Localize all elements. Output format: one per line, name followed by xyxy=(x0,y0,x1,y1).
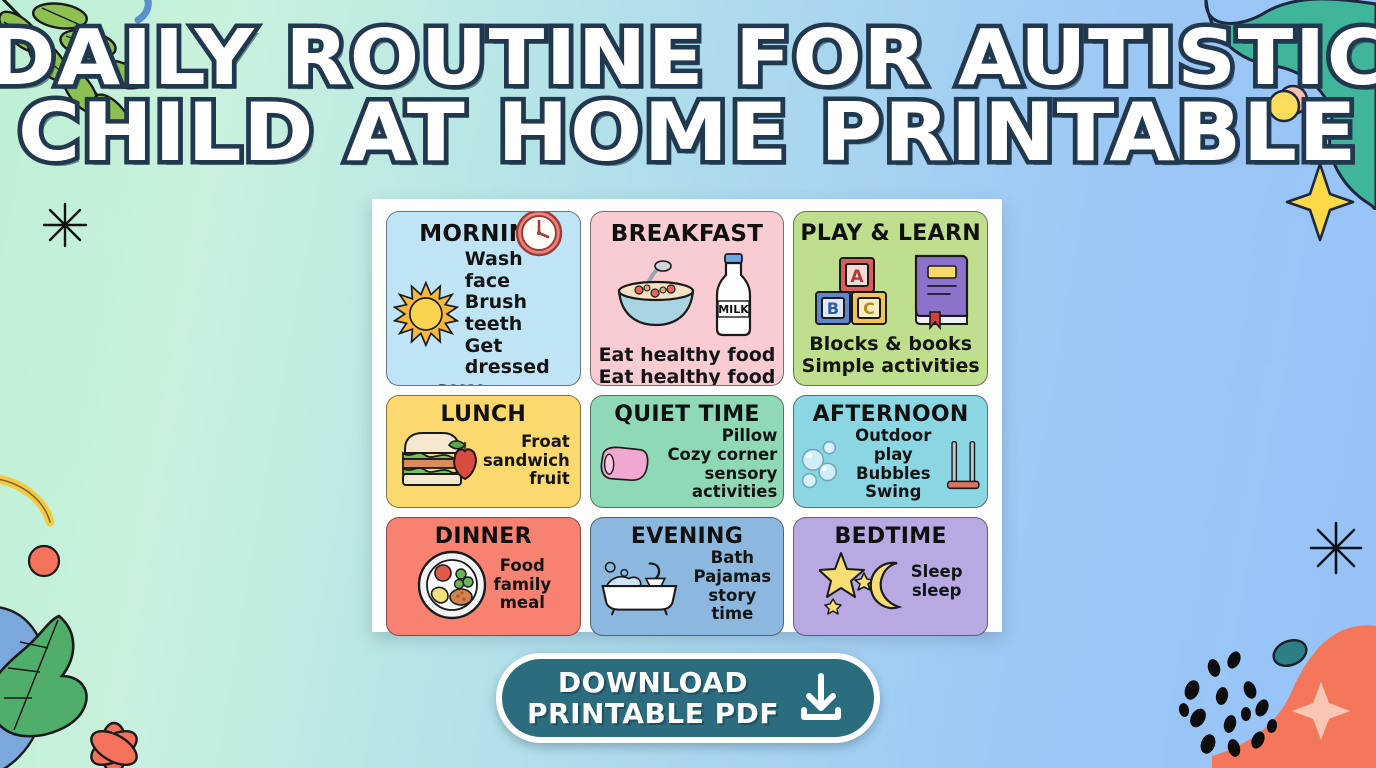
line-item: Pillow xyxy=(653,427,778,446)
book-icon xyxy=(906,250,972,330)
bubbles-icon xyxy=(800,437,840,493)
card-title-breakfast: BREAKFAST xyxy=(591,212,784,247)
card-body-lunch: Froat sandwich fruit xyxy=(387,427,580,495)
card-lines-evening: Bath Pajamas story time xyxy=(687,549,777,624)
line-item: Food xyxy=(494,557,552,576)
milk-label: MILK xyxy=(718,303,749,316)
routine-card-afternoon[interactable]: AFTERNOON Outdoor play Bubbles Swing xyxy=(793,395,988,508)
line-item: story time xyxy=(687,587,777,625)
card-body-afternoon: Outdoor play Bubbles Swing xyxy=(794,427,987,502)
dot-cluster-bottom-right-icon xyxy=(1172,648,1307,768)
routine-card-lunch[interactable]: LUNCH Froat sandwich fruit xyxy=(386,395,581,508)
card-icons-play-learn: A B C xyxy=(794,246,987,330)
card-sublabel-sun: SUN xyxy=(386,381,580,386)
block-letter-a: A xyxy=(850,267,864,287)
routine-panel: MORNING Wash face Br xyxy=(372,199,1002,632)
card-title-morning: MORNING xyxy=(387,212,580,247)
line-item: Eat healthy food xyxy=(591,367,784,386)
line-item: Get dressed xyxy=(465,336,574,379)
routine-card-bedtime[interactable]: BEDTIME Sleep sleep xyxy=(793,517,988,636)
swing-icon xyxy=(946,434,981,496)
download-printable-pdf-button[interactable]: DOWNLOAD PRINTABLE PDF xyxy=(496,653,880,743)
line-item: Swing xyxy=(841,483,945,502)
pillow-icon xyxy=(597,437,650,493)
pink-star-bottom-right-icon xyxy=(1290,680,1352,742)
routine-card-evening[interactable]: EVENING Bath Pajamas story time xyxy=(590,517,785,636)
routine-card-breakfast[interactable]: BREAKFAST xyxy=(590,211,785,386)
routine-grid: MORNING Wash face Br xyxy=(386,211,988,620)
routine-card-dinner[interactable]: DINNER Food family meal xyxy=(386,517,581,636)
block-letter-b: B xyxy=(827,299,839,318)
card-lines-morning: Wash face Brush teeth Get dressed xyxy=(465,249,574,379)
line-item: sensory activities xyxy=(653,465,778,503)
page-title: DAILY ROUTINE FOR AUTISTIC CHILD AT HOME… xyxy=(0,22,1376,170)
card-lines-lunch: Froat sandwich fruit xyxy=(483,433,570,489)
download-label-line-2: PRINTABLE PDF xyxy=(527,698,779,729)
line-item: family xyxy=(494,576,552,595)
card-title-quiet-time: QUIET TIME xyxy=(591,396,784,427)
coral-blob-bottom-right-icon xyxy=(1116,508,1376,768)
routine-card-play-learn[interactable]: PLAY & LEARN A B C xyxy=(793,211,988,386)
yellow-arc-icon xyxy=(0,470,62,530)
card-body-dinner: Food family meal xyxy=(387,549,580,621)
cereal-bowl-icon xyxy=(613,259,699,331)
title-line-2: CHILD AT HOME PRINTABLE xyxy=(0,96,1376,170)
line-item: Blocks & books xyxy=(794,334,987,356)
download-icon xyxy=(793,670,849,726)
milk-bottle-icon: MILK xyxy=(705,251,761,339)
download-label-line-1: DOWNLOAD xyxy=(527,667,779,698)
sandwich-icon xyxy=(397,427,481,495)
card-title-evening: EVENING xyxy=(591,518,784,549)
line-item: sleep xyxy=(911,582,963,601)
abc-blocks-icon: A B C xyxy=(810,250,896,330)
card-title-dinner: DINNER xyxy=(387,518,580,549)
line-item: Outdoor play xyxy=(841,427,945,465)
line-item: meal xyxy=(494,594,552,613)
card-title-play-learn: PLAY & LEARN xyxy=(794,212,987,246)
line-item: Brush teeth xyxy=(465,292,574,335)
line-item: Eat healthy food xyxy=(591,345,784,367)
dinner-plate-icon xyxy=(416,549,488,621)
sun-icon xyxy=(393,275,459,353)
card-lines-play-learn: Blocks & books Simple activities xyxy=(794,334,987,377)
block-letter-c: C xyxy=(863,299,875,318)
download-button-label: DOWNLOAD PRINTABLE PDF xyxy=(527,667,779,729)
card-lines-afternoon: Outdoor play Bubbles Swing xyxy=(841,427,945,502)
card-lines-breakfast: Eat healthy food Eat healthy food xyxy=(591,345,784,386)
routine-card-quiet-time[interactable]: QUIET TIME Pillow Cozy corner sensory ac… xyxy=(590,395,785,508)
card-lines-bedtime: Sleep sleep xyxy=(911,563,963,601)
title-line-1: DAILY ROUTINE FOR AUTISTIC xyxy=(0,22,1376,96)
clock-icon xyxy=(514,211,564,258)
line-item: Cozy corner xyxy=(653,446,778,465)
line-item: Simple activities xyxy=(794,356,987,378)
card-body-quiet-time: Pillow Cozy corner sensory activities xyxy=(591,427,784,502)
card-body-bedtime: Sleep sleep xyxy=(794,549,987,615)
bathtub-icon xyxy=(597,556,684,618)
line-item: Pajamas xyxy=(687,568,777,587)
card-title-lunch: LUNCH xyxy=(387,396,580,427)
card-body-evening: Bath Pajamas story time xyxy=(591,549,784,624)
card-lines-quiet-time: Pillow Cozy corner sensory activities xyxy=(653,427,778,502)
card-icons-breakfast: MILK xyxy=(591,247,784,339)
line-item: fruit xyxy=(483,470,570,489)
star-moon-icon xyxy=(819,549,905,615)
sparkle-asterisk-bottom-right-icon xyxy=(1308,520,1364,576)
bottom-left-foliage-icon xyxy=(0,598,214,768)
line-item: sandwich xyxy=(483,452,570,471)
coral-circle-icon xyxy=(26,543,62,579)
teal-ellipse-icon xyxy=(1268,634,1312,672)
line-item: Sleep xyxy=(911,563,963,582)
line-item: Froat xyxy=(483,433,570,452)
card-lines-dinner: Food family meal xyxy=(494,557,552,613)
line-item: Bath xyxy=(687,549,777,568)
card-title-afternoon: AFTERNOON xyxy=(794,396,987,427)
card-title-bedtime: BEDTIME xyxy=(794,518,987,549)
routine-card-morning[interactable]: MORNING Wash face Br xyxy=(386,211,581,386)
line-item: Bubbles xyxy=(841,465,945,484)
card-body-morning: Wash face Brush teeth Get dressed xyxy=(387,247,580,379)
sparkle-asterisk-top-left-icon xyxy=(40,200,90,250)
